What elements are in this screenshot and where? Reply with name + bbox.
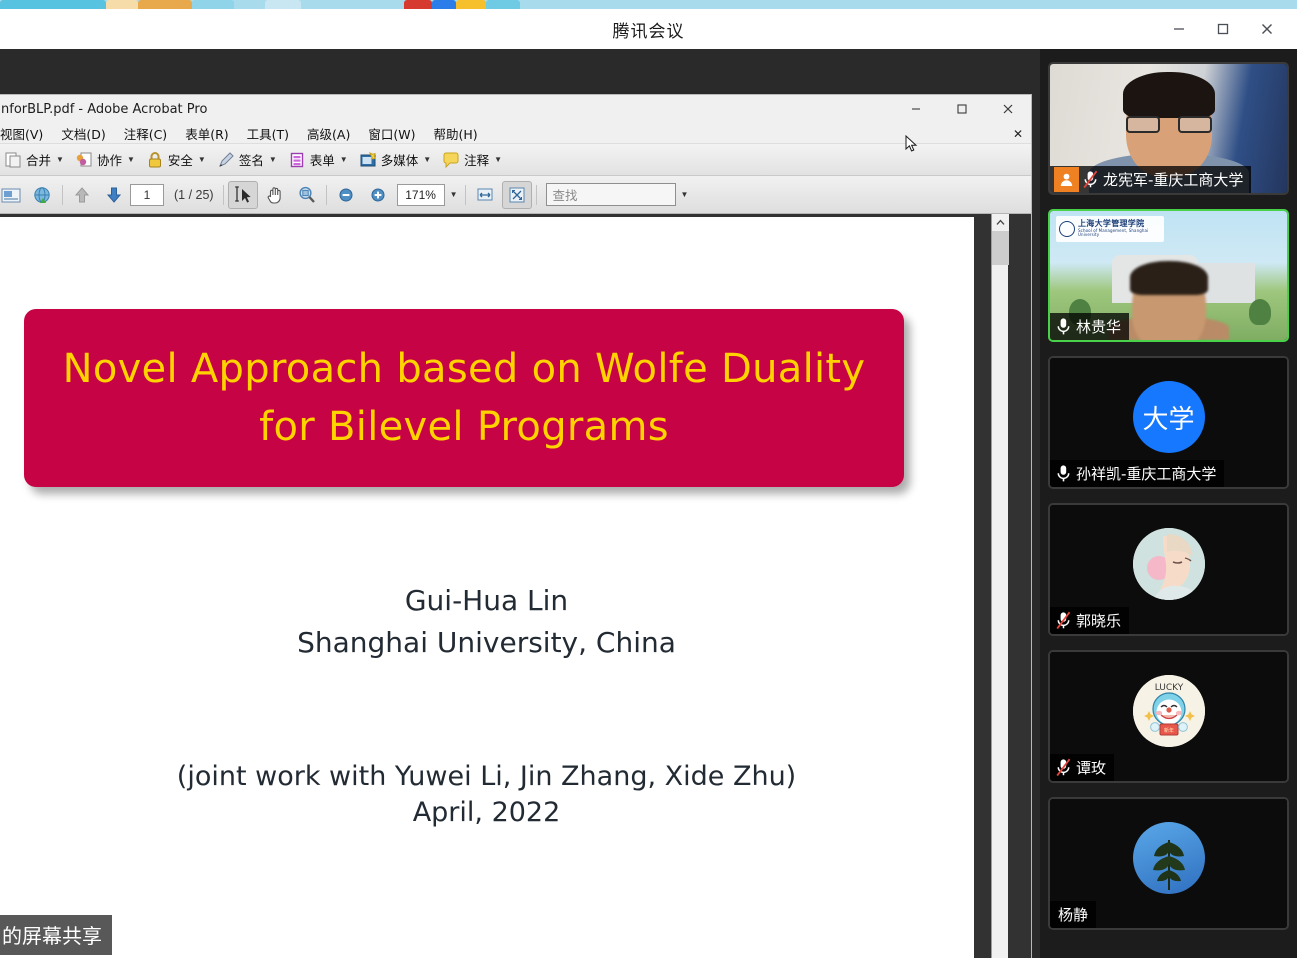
browser-tab-fragment: [106, 0, 138, 9]
browser-tab-fragment: [192, 0, 234, 9]
page-count-label: (1 / 25): [174, 188, 214, 202]
multimedia-icon: [358, 150, 378, 170]
toolbar-comment-button[interactable]: 注释 ▼: [438, 147, 509, 173]
video-hair: [1123, 72, 1215, 118]
slide-joint-work: (joint work with Yuwei Li, Jin Zhang, Xi…: [0, 759, 974, 795]
tencent-meeting-window: 腾讯会议 nforBLP.pdf - Adobe Acrobat Pro: [0, 9, 1297, 958]
find-placeholder: 查找: [553, 185, 578, 204]
acrobat-close-button[interactable]: [985, 95, 1031, 123]
acrobat-titlebar: nforBLP.pdf - Adobe Acrobat Pro: [0, 95, 1031, 123]
logo-text-en: School of Management, Shanghai Universit…: [1078, 229, 1164, 238]
slide-joint-block: (joint work with Yuwei Li, Jin Zhang, Xi…: [0, 759, 974, 832]
pdf-viewport[interactable]: Novel Approach based on Wolfe Duality fo…: [0, 214, 1031, 958]
participant-name: 郭晓乐: [1076, 610, 1121, 631]
close-document-icon[interactable]: ✕: [1013, 127, 1023, 141]
menu-document[interactable]: 文档(D): [52, 124, 114, 143]
shared-screen-region: nforBLP.pdf - Adobe Acrobat Pro 视图(V) 文: [0, 49, 1040, 958]
find-dropdown-icon[interactable]: ▼: [681, 190, 689, 199]
menu-tools[interactable]: 工具(T): [238, 124, 298, 143]
slide-author-block: Gui-Hua Lin Shanghai University, China: [0, 580, 974, 664]
participant-namebar: 龙宪军-重庆工商大学: [1050, 166, 1251, 193]
participant-rail: 龙宪军-重庆工商大学 上海大学管理学院 School of Management…: [1040, 49, 1297, 958]
close-icon: [1259, 21, 1275, 37]
avatar-text: 大学: [1142, 399, 1194, 436]
host-badge-icon: [1054, 167, 1079, 192]
toolbar-security-label: 安全: [168, 150, 193, 169]
web-capture-button[interactable]: [28, 181, 58, 209]
menu-comment[interactable]: 注释(C): [115, 124, 176, 143]
marquee-zoom-icon: [296, 184, 318, 206]
fit-page-icon: [506, 184, 528, 206]
slide-author-name: Gui-Hua Lin: [0, 580, 974, 622]
hand-tool-icon: [264, 184, 286, 206]
hand-tool-button[interactable]: [260, 181, 290, 209]
virtual-background-logo: 上海大学管理学院 School of Management, Shanghai …: [1056, 216, 1164, 242]
toolbar-separator: [465, 185, 466, 205]
slide-date: April, 2022: [0, 795, 974, 831]
minimize-icon: [1171, 21, 1187, 37]
fit-width-icon: [474, 184, 496, 206]
university-seal-icon: [1059, 221, 1075, 237]
zoom-out-icon: [335, 184, 357, 206]
zoom-level-input[interactable]: 171%: [397, 184, 445, 206]
slide-title-banner: Novel Approach based on Wolfe Duality fo…: [24, 309, 904, 487]
chevron-down-icon[interactable]: ▼: [340, 155, 348, 164]
close-icon: [1001, 102, 1015, 116]
avatar-illustration-leaf-icon: [1133, 822, 1205, 894]
svg-text:新年: 新年: [1163, 727, 1173, 734]
menubar-right-group: ✕: [1013, 123, 1031, 144]
toolbar-separator: [223, 185, 224, 205]
video-glasses: [1126, 116, 1212, 133]
participant-tile[interactable]: 龙宪军-重庆工商大学: [1048, 62, 1289, 195]
avatar-illustration-lucky-icon: LUCKY 新年: [1133, 675, 1205, 747]
mic-muted-icon: [1054, 610, 1073, 631]
adobe-acrobat-window: nforBLP.pdf - Adobe Acrobat Pro 视图(V) 文: [0, 94, 1032, 958]
attach-button[interactable]: [0, 181, 26, 209]
minimize-icon: [909, 102, 923, 116]
toolbar-sign-label: 签名: [239, 150, 264, 169]
toolbar-multimedia-button[interactable]: 多媒体 ▼: [355, 147, 438, 173]
fit-width-button[interactable]: [470, 181, 500, 209]
avatar-illustration-girl-icon: [1133, 528, 1205, 600]
mic-muted-icon: [1081, 169, 1100, 190]
acrobat-window-controls: [893, 95, 1031, 123]
select-tool-icon: [232, 184, 254, 206]
browser-tab-fragment: [0, 0, 106, 9]
toolbar-comment-label: 注释: [464, 150, 489, 169]
marquee-zoom-button[interactable]: [292, 181, 322, 209]
participant-tile[interactable]: LUCKY 新年: [1048, 650, 1289, 783]
participant-tile[interactable]: 郭晓乐: [1048, 503, 1289, 636]
comment-icon: [441, 150, 461, 170]
meeting-maximize-button[interactable]: [1201, 9, 1245, 49]
web-globe-icon: [32, 185, 54, 205]
page-number-input[interactable]: 1: [130, 184, 164, 206]
chevron-up-icon: [996, 219, 1005, 226]
chevron-down-icon[interactable]: ▼: [494, 155, 502, 164]
avatar: [1133, 822, 1205, 894]
toolbar-sign-button[interactable]: 签名 ▼: [213, 147, 284, 173]
participant-tile[interactable]: 大学 孙祥凯-重庆工商大学: [1048, 356, 1289, 489]
video-tree: [1249, 299, 1271, 325]
avatar: LUCKY 新年: [1133, 675, 1205, 747]
lock-icon: [145, 150, 165, 170]
meeting-minimize-button[interactable]: [1157, 9, 1201, 49]
meeting-window-controls: [1157, 9, 1289, 49]
avatar: 大学: [1133, 381, 1205, 453]
acrobat-toolbar-primary: 合并 ▼ 协作 ▼ 安全 ▼: [0, 144, 1031, 176]
participant-namebar: 谭玫: [1050, 754, 1114, 781]
menu-help[interactable]: 帮助(H): [424, 124, 486, 143]
meeting-close-button[interactable]: [1245, 9, 1289, 49]
menu-forms[interactable]: 表单(R): [176, 124, 237, 143]
next-page-button[interactable]: [99, 181, 129, 209]
meeting-title: 腾讯会议: [613, 17, 685, 42]
svg-text:LUCKY: LUCKY: [1154, 683, 1183, 693]
browser-tab-fragment: [265, 0, 301, 9]
participant-tile[interactable]: 上海大学管理学院 School of Management, Shanghai …: [1048, 209, 1289, 342]
toolbar-separator: [62, 185, 63, 205]
acrobat-menubar: 视图(V) 文档(D) 注释(C) 表单(R) 工具(T) 高级(A) 窗口(W…: [0, 123, 1031, 144]
toolbar-combine-label: 合并: [26, 150, 51, 169]
participant-tile[interactable]: 杨静: [1048, 797, 1289, 930]
browser-tab-fragment: [486, 0, 520, 9]
chevron-down-icon[interactable]: ▼: [269, 155, 277, 164]
slide-title-line-1: Novel Approach based on Wolfe Duality: [63, 340, 866, 398]
acrobat-minimize-button[interactable]: [893, 95, 939, 123]
browser-tab-fragment: [432, 0, 456, 9]
participant-name: 龙宪军-重庆工商大学: [1103, 169, 1243, 190]
mic-unmuted-icon: [1054, 463, 1073, 484]
find-input[interactable]: 查找: [546, 183, 676, 206]
maximize-icon: [1215, 21, 1231, 37]
toolbar-security-button[interactable]: 安全 ▼: [142, 147, 213, 173]
form-icon: [287, 150, 307, 170]
chevron-down-icon[interactable]: ▼: [423, 155, 431, 164]
browser-tab-strip: [0, 0, 1297, 9]
participant-name: 杨静: [1058, 904, 1088, 925]
acrobat-maximize-button[interactable]: [939, 95, 985, 123]
chevron-down-icon[interactable]: ▼: [198, 155, 206, 164]
participant-namebar: 林贵华: [1050, 313, 1129, 340]
slide-affiliation: Shanghai University, China: [0, 622, 974, 664]
pen-icon: [216, 150, 236, 170]
menu-advanced[interactable]: 高级(A): [298, 124, 359, 143]
chevron-down-icon[interactable]: ▼: [127, 155, 135, 164]
combine-icon: [3, 150, 23, 170]
avatar: [1133, 528, 1205, 600]
next-page-icon: [103, 184, 125, 206]
meeting-titlebar: 腾讯会议: [0, 9, 1297, 49]
previous-page-button[interactable]: [67, 181, 97, 209]
toolbar-separator: [326, 185, 327, 205]
toolbar-multimedia-label: 多媒体: [381, 150, 419, 169]
menu-window[interactable]: 窗口(W): [359, 124, 424, 143]
participant-name: 谭玫: [1076, 757, 1106, 778]
participant-namebar: 孙祥凯-重庆工商大学: [1050, 460, 1224, 487]
fit-page-button[interactable]: [502, 181, 532, 209]
toolbar-separator: [536, 185, 537, 205]
menu-view[interactable]: 视图(V): [0, 124, 52, 143]
toolbar-combine-button[interactable]: 合并 ▼: [0, 147, 71, 173]
video-hair: [1130, 261, 1208, 295]
toolbar-forms-button[interactable]: 表单 ▼: [284, 147, 355, 173]
attach-icon: [0, 185, 22, 205]
pdf-page: Novel Approach based on Wolfe Duality fo…: [0, 217, 974, 958]
select-tool-button[interactable]: [228, 181, 258, 209]
zoom-out-button[interactable]: [331, 181, 361, 209]
mic-muted-icon: [1054, 757, 1073, 778]
toolbar-collaborate-button[interactable]: 协作 ▼: [71, 147, 142, 173]
browser-tab-fragment: [404, 0, 432, 9]
participant-name: 林贵华: [1076, 316, 1121, 337]
slide-title-line-2: for Bilevel Programs: [259, 398, 669, 456]
acrobat-title: nforBLP.pdf - Adobe Acrobat Pro: [0, 102, 207, 117]
browser-tab-fragment: [138, 0, 192, 9]
browser-tab-fragment: [456, 0, 486, 9]
previous-page-icon: [71, 184, 93, 206]
participant-namebar: 郭晓乐: [1050, 607, 1129, 634]
mic-unmuted-icon: [1054, 316, 1073, 337]
collaborate-icon: [74, 150, 94, 170]
pdf-vertical-scrollbar[interactable]: [991, 214, 1008, 958]
acrobat-toolbar-secondary: 1 (1 / 25) 171%: [0, 176, 1031, 214]
chevron-down-icon[interactable]: ▼: [56, 155, 64, 164]
maximize-icon: [955, 102, 969, 116]
participant-name: 孙祥凯-重庆工商大学: [1076, 463, 1216, 484]
zoom-in-button[interactable]: [363, 181, 393, 209]
participant-namebar: 杨静: [1050, 901, 1096, 928]
scrollbar-thumb[interactable]: [992, 231, 1009, 265]
toolbar-forms-label: 表单: [310, 150, 335, 169]
scroll-up-button[interactable]: [992, 214, 1009, 231]
toolbar-collaborate-label: 协作: [97, 150, 122, 169]
screen-share-indicator: 的屏幕共享: [0, 915, 112, 955]
zoom-dropdown-icon[interactable]: ▼: [450, 190, 458, 199]
zoom-in-icon: [367, 184, 389, 206]
